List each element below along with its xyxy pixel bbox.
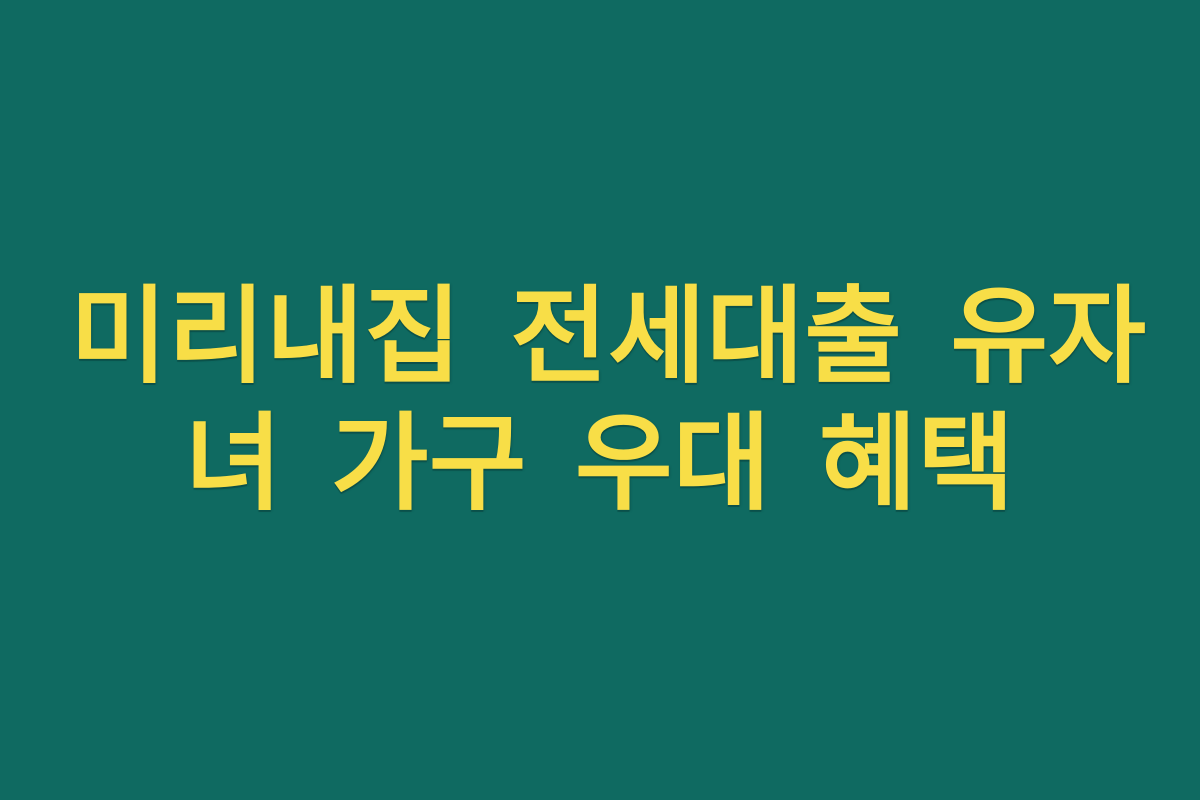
headline-line-1: 미리내집 전세대출 유자 (70, 273, 1130, 400)
headline-block: 미리내집 전세대출 유자 녀 가구 우대 혜택 (70, 273, 1130, 527)
headline-line-2: 녀 가구 우대 혜택 (70, 400, 1130, 527)
thumbnail-canvas: 미리내집 전세대출 유자 녀 가구 우대 혜택 (0, 0, 1200, 800)
